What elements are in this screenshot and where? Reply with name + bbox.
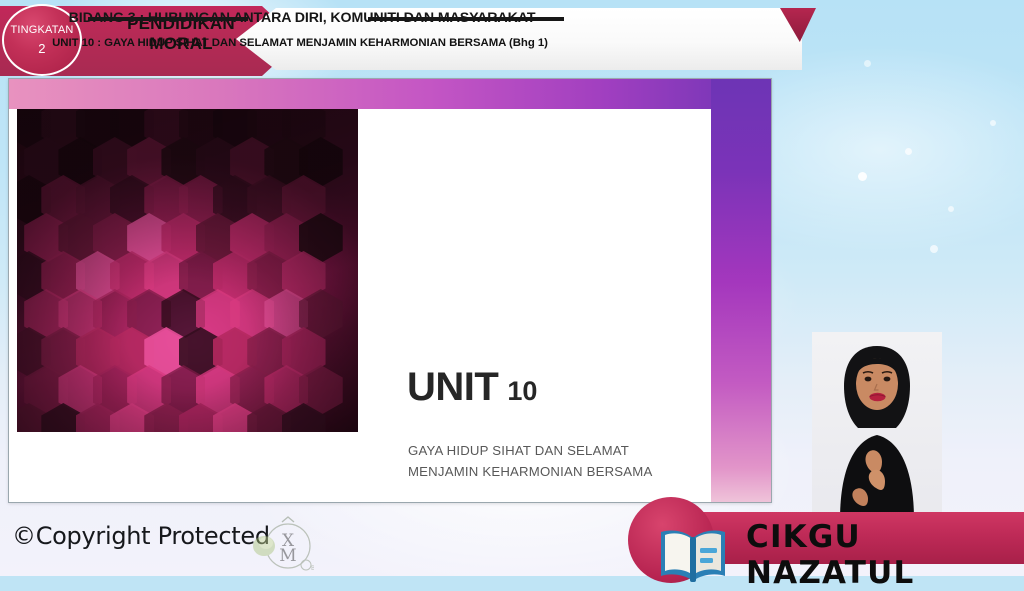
- channel-brand-badge[interactable]: CIKGU NAZATUL: [650, 512, 1024, 564]
- lesson-header-banner: PENDIDIKAN MORAL TINGKATAN 2 BIDANG 3 : …: [0, 0, 1024, 86]
- slide-subtitle: GAYA HIDUP SIHAT DAN SELAMAT MENJAMIN KE…: [408, 440, 708, 483]
- slide-subtitle-line2: MENJAMIN KEHARMONIAN BERSAMA: [408, 461, 708, 482]
- brand-name-text: CIKGU NAZATUL: [746, 519, 1024, 591]
- unit-subtitle: UNIT 10 : GAYA HIDUP SIHAT DAN SELAMAT M…: [40, 32, 560, 54]
- bidang-title: BIDANG 3 : HUBUNGAN ANTARA DIRI, KOMUNIT…: [46, 6, 558, 30]
- slide-unit-word: UNIT: [407, 365, 498, 409]
- hexagon-vignette: [17, 109, 358, 432]
- cloud-speck: [858, 172, 867, 181]
- cloud-speck: [948, 206, 954, 212]
- slide-right-gradient-band: [711, 79, 771, 502]
- cloud-speck: [905, 148, 912, 155]
- cloud-speck: [990, 120, 996, 126]
- bidang-strike-left: [88, 17, 248, 21]
- moe-watermark-logo: X M BM: [252, 516, 314, 574]
- slide-unit-number: 10: [507, 376, 537, 406]
- presentation-slide[interactable]: UNIT10 GAYA HIDUP SIHAT DAN SELAMAT MENJ…: [8, 78, 772, 503]
- slide-subtitle-line1: GAYA HIDUP SIHAT DAN SELAMAT: [408, 440, 708, 461]
- cloud-speck: [930, 245, 938, 253]
- slide-top-gradient-band: [9, 79, 771, 109]
- presenter-video-overlay: [812, 332, 942, 520]
- svg-text:BM: BM: [311, 565, 314, 572]
- hexagon-artwork-panel: [17, 109, 358, 432]
- bidang-strike-right: [368, 17, 564, 21]
- slide-unit-heading: UNIT10: [407, 367, 537, 407]
- svg-text:M: M: [279, 546, 296, 566]
- copyright-notice: ©Copyright Protected: [12, 522, 270, 550]
- open-book-icon: [654, 524, 732, 586]
